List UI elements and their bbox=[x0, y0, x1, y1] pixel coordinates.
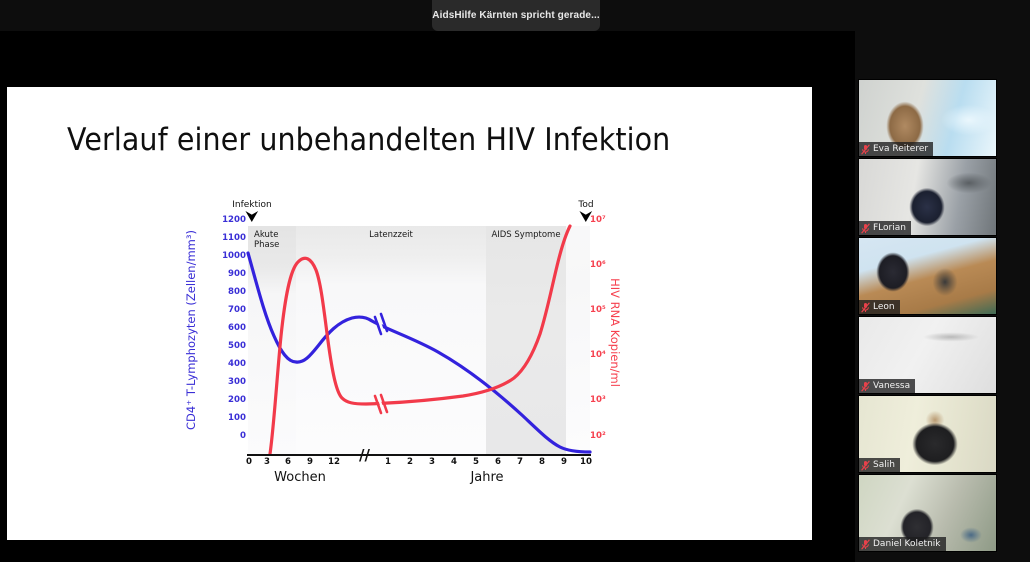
x-axis-break-icon: // bbox=[359, 446, 375, 464]
y-axis-left-label: CD4⁺ T-Lymphozyten (Zellen/mm³) bbox=[184, 214, 198, 446]
y-right-tick: 10⁷ bbox=[590, 215, 606, 225]
y-axis-left-ticks: 1200 1100 1000 900 800 700 600 500 400 3… bbox=[190, 202, 246, 497]
y-left-tick: 300 bbox=[194, 377, 246, 387]
participant-name-badge: Daniel Koletnik bbox=[859, 537, 946, 551]
participant-name-badge: Leon bbox=[859, 300, 900, 314]
y-right-tick: 10⁴ bbox=[590, 350, 606, 360]
participant-name: Daniel Koletnik bbox=[873, 539, 941, 549]
hiv-course-chart: Akute Phase Latenzzeit AIDS Symptome bbox=[190, 202, 660, 497]
presentation-slide: Verlauf einer unbehandelten HIV Infektio… bbox=[7, 87, 812, 540]
down-arrow-icon: ⮟ bbox=[580, 211, 592, 221]
x-tick-year: 2 bbox=[407, 457, 413, 467]
x-tick-year: 4 bbox=[451, 457, 457, 467]
x-tick-week: 3 bbox=[264, 457, 270, 467]
y-left-tick: 100 bbox=[194, 413, 246, 423]
y-right-tick: 10⁵ bbox=[590, 305, 606, 315]
y-left-tick: 1000 bbox=[194, 251, 246, 261]
y-left-tick: 600 bbox=[194, 323, 246, 333]
x-tick-week: 0 bbox=[246, 457, 252, 467]
participant-tile[interactable]: Salih bbox=[858, 395, 997, 473]
chart-curves bbox=[248, 226, 590, 454]
x-tick-week: 9 bbox=[307, 457, 313, 467]
y-left-tick: 1200 bbox=[194, 215, 246, 225]
participant-tile[interactable]: FLorian bbox=[858, 158, 997, 236]
mic-muted-icon bbox=[861, 302, 870, 313]
participant-tile[interactable]: Vanessa bbox=[858, 316, 997, 394]
x-tick-week: 6 bbox=[285, 457, 291, 467]
y-right-tick: 10³ bbox=[590, 395, 606, 405]
active-speaker-banner: AidsHilfe Kärnten spricht gerade... bbox=[432, 0, 600, 31]
participant-name: FLorian bbox=[873, 223, 906, 233]
participant-tile[interactable]: Daniel Koletnik bbox=[858, 474, 997, 552]
participant-rail[interactable]: Eva Reiterer FLorian Leon Vaness bbox=[855, 0, 1030, 562]
y-left-tick: 0 bbox=[194, 431, 246, 441]
mic-muted-icon bbox=[861, 381, 870, 392]
y-left-tick: 200 bbox=[194, 395, 246, 405]
x-tick-year: 7 bbox=[517, 457, 523, 467]
y-right-tick: 10² bbox=[590, 431, 606, 441]
x-tick-year: 8 bbox=[539, 457, 545, 467]
y-left-tick: 1100 bbox=[194, 233, 246, 243]
series-cd4-lymphocytes-line bbox=[248, 253, 590, 452]
participant-name-badge: Salih bbox=[859, 458, 900, 472]
page-title: Verlauf einer unbehandelten HIV Infektio… bbox=[67, 122, 670, 158]
y-left-tick: 800 bbox=[194, 287, 246, 297]
y-left-tick: 400 bbox=[194, 359, 246, 369]
participant-name: Vanessa bbox=[873, 381, 910, 391]
x-tick-year: 6 bbox=[495, 457, 501, 467]
y-left-tick: 900 bbox=[194, 269, 246, 279]
y-left-tick: 700 bbox=[194, 305, 246, 315]
mic-muted-icon bbox=[861, 144, 870, 155]
x-tick-week: 12 bbox=[328, 457, 340, 467]
x-tick-year: 1 bbox=[385, 457, 391, 467]
x-tick-year: 3 bbox=[429, 457, 435, 467]
y-right-tick: 10⁶ bbox=[590, 260, 606, 270]
down-arrow-icon: ⮟ bbox=[246, 211, 258, 221]
active-speaker-label: AidsHilfe Kärnten spricht gerade... bbox=[432, 10, 599, 21]
x-axis-group-label-wochen: Wochen bbox=[274, 470, 326, 485]
participant-tile[interactable]: Leon bbox=[858, 237, 997, 315]
participant-name-badge: Vanessa bbox=[859, 379, 915, 393]
mic-muted-icon bbox=[861, 223, 870, 234]
participant-name-badge: FLorian bbox=[859, 221, 911, 235]
x-axis-group-label-jahre: Jahre bbox=[470, 470, 503, 485]
y-left-tick: 500 bbox=[194, 341, 246, 351]
participant-name: Salih bbox=[873, 460, 895, 470]
participant-name: Leon bbox=[873, 302, 895, 312]
mic-muted-icon bbox=[861, 539, 870, 550]
participant-tile[interactable]: Eva Reiterer bbox=[858, 79, 997, 157]
y-axis-right-label: HIV RNA Kopien/ml bbox=[608, 250, 622, 415]
x-tick-year: 10 bbox=[580, 457, 592, 467]
participant-name: Eva Reiterer bbox=[873, 144, 928, 154]
participant-name-badge: Eva Reiterer bbox=[859, 142, 933, 156]
mic-muted-icon bbox=[861, 460, 870, 471]
shared-screen-stage[interactable]: Verlauf einer unbehandelten HIV Infektio… bbox=[0, 31, 855, 562]
x-tick-year: 9 bbox=[561, 457, 567, 467]
x-tick-year: 5 bbox=[473, 457, 479, 467]
